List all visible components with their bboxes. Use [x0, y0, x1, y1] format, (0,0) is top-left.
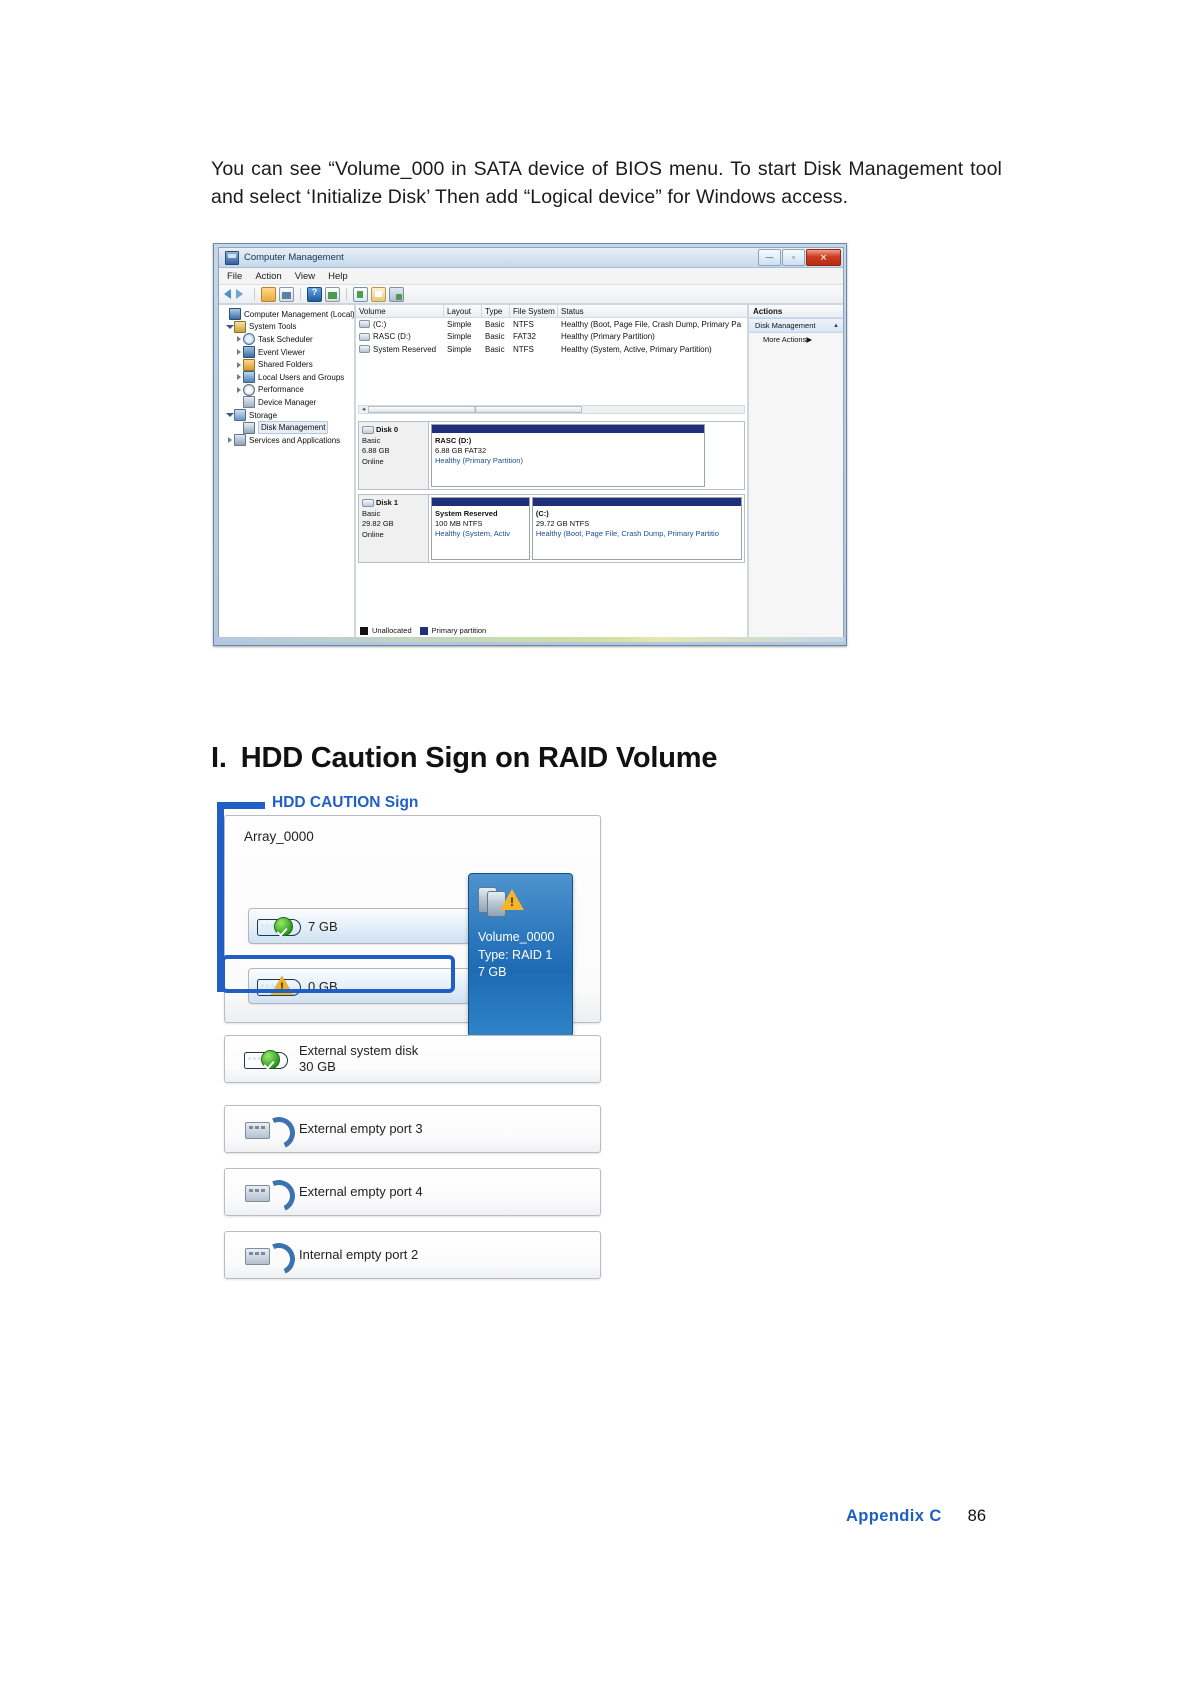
chevron-right-icon[interactable]: ▶	[806, 335, 812, 344]
intro-paragraph: You can see “Volume_000 in SATA device o…	[211, 156, 1002, 211]
scrollbar-thumb[interactable]	[368, 406, 582, 413]
tooltip-volume-type: Type: RAID 1	[478, 947, 572, 965]
main-pane: Volume Layout Type File System Status (C…	[355, 304, 843, 638]
back-arrow-icon[interactable]	[224, 289, 231, 299]
task-scheduler-icon	[243, 333, 255, 345]
cell-layout: Simple	[444, 331, 482, 344]
toolbar-separator	[254, 288, 255, 300]
scroll-left-icon[interactable]: ◄	[359, 407, 368, 413]
toolbar-separator	[346, 288, 347, 300]
hdd-green-check-icon	[257, 916, 301, 936]
services-icon	[234, 434, 246, 446]
minimize-button[interactable]: —	[758, 249, 781, 266]
window-controls[interactable]: — ▫ ✕	[758, 249, 841, 266]
disk-row[interactable]: Disk 1 Basic 29.82 GB Online	[358, 494, 745, 563]
page-footer: Appendix C 86	[846, 1507, 986, 1526]
actions-item-label: More Actions	[763, 335, 806, 344]
tree-item-system-tools[interactable]: System Tools	[221, 321, 354, 334]
disk-legend: Unallocated Primary partition	[360, 626, 486, 635]
window-title-bar: Computer Management — ▫ ✕	[219, 248, 843, 268]
disk-state: Online	[362, 530, 428, 541]
close-icon: ✕	[820, 253, 828, 262]
computer-icon	[229, 308, 241, 320]
partition-size: 6.88 GB FAT32	[435, 446, 704, 456]
external-empty-port-4-panel[interactable]: External empty port 4	[224, 1168, 601, 1216]
window-body: Computer Management (Local) System Tools…	[219, 304, 843, 638]
computer-management-screenshot: Computer Management — ▫ ✕ File Action Vi…	[213, 243, 847, 646]
table-row[interactable]: System Reserved Simple Basic NTFS Health…	[356, 343, 747, 356]
cell-volume: System Reserved	[356, 343, 444, 356]
partition-details: RASC (D:) 6.88 GB FAT32 Healthy (Primary…	[432, 434, 704, 466]
menu-item-help[interactable]: Help	[328, 271, 348, 282]
chevron-collapsed-icon[interactable]	[228, 437, 232, 443]
chevron-collapsed-icon[interactable]	[237, 349, 241, 355]
tree-item-shared-folders[interactable]: Shared Folders	[221, 358, 354, 371]
cell-file-system: NTFS	[510, 343, 558, 356]
partition-title: System Reserved	[435, 509, 529, 519]
volume-icon	[359, 320, 370, 328]
graphical-disk-view: Disk 0 Basic 6.88 GB Online R	[356, 421, 747, 622]
drive-row-healthy[interactable]: 7 GB	[248, 908, 470, 944]
cell-file-system: NTFS	[510, 318, 558, 331]
chevron-expanded-icon[interactable]	[226, 413, 234, 417]
up-folder-icon[interactable]	[261, 287, 276, 302]
chevron-expanded-icon[interactable]	[226, 325, 234, 329]
disk-icon	[362, 426, 374, 434]
legend-swatch-unallocated	[360, 627, 368, 635]
tree-item-label: Task Scheduler	[258, 334, 313, 345]
empty-port-icon	[244, 1179, 288, 1205]
column-header-type[interactable]: Type	[482, 305, 510, 317]
help-icon[interactable]	[307, 287, 322, 302]
panel-line1: External system disk	[299, 1043, 418, 1058]
external-empty-port-3-panel[interactable]: External empty port 3	[224, 1105, 601, 1153]
tree-item-storage[interactable]: Storage	[221, 409, 354, 422]
partition-color-bar	[533, 498, 741, 507]
disk-type: Basic	[362, 436, 428, 447]
drive-capacity: 7 GB	[308, 919, 338, 934]
tree-item-label: Performance	[258, 384, 304, 395]
partition-health: Healthy (Primary Partition)	[435, 456, 704, 466]
cell-type: Basic	[482, 343, 510, 356]
menu-item-view[interactable]: View	[295, 271, 315, 282]
cell-volume: (C:)	[356, 318, 444, 331]
table-row[interactable]: RASC (D:) Simple Basic FAT32 Healthy (Pr…	[356, 331, 747, 344]
menu-item-file[interactable]: File	[227, 271, 242, 282]
console-tree[interactable]: Computer Management (Local) System Tools…	[219, 304, 355, 638]
tree-item-computer-management[interactable]: Computer Management (Local)	[221, 308, 354, 321]
disk-partitions: RASC (D:) 6.88 GB FAT32 Healthy (Primary…	[429, 422, 744, 489]
tree-item-label: Computer Management (Local)	[244, 309, 355, 320]
disk-icon	[362, 499, 374, 507]
cell-type: Basic	[482, 318, 510, 331]
partition-color-bar	[432, 425, 704, 434]
properties-icon[interactable]	[371, 287, 386, 302]
disk-name: Disk 1	[362, 498, 428, 509]
page-title: I.HDD Caution Sign on RAID Volume	[211, 742, 717, 775]
cell-volume: RASC (D:)	[356, 331, 444, 344]
tree-item-label: System Tools	[249, 321, 296, 332]
internal-empty-port-2-panel[interactable]: Internal empty port 2	[224, 1231, 601, 1279]
chevron-collapsed-icon[interactable]	[237, 336, 241, 342]
raid-volume-warning-icon	[478, 882, 530, 920]
disk-info-panel: Disk 1 Basic 29.82 GB Online	[359, 495, 429, 562]
tree-item-label: Shared Folders	[258, 359, 313, 370]
disk-partitions: System Reserved 100 MB NTFS Healthy (Sys…	[429, 495, 744, 562]
actions-item-label: Disk Management	[755, 321, 815, 330]
partition-color-bar	[432, 498, 529, 507]
volume-icon	[359, 333, 370, 341]
section-number: I.	[211, 742, 227, 774]
array-title: Array_0000	[244, 829, 314, 844]
disk-management-icon	[243, 422, 255, 434]
chevron-collapsed-icon[interactable]	[237, 374, 241, 380]
legend-label-unallocated: Unallocated	[372, 626, 412, 635]
performance-icon	[243, 384, 255, 396]
cell-status: Healthy (System, Active, Primary Partiti…	[558, 343, 747, 356]
callout-top-line	[217, 802, 265, 809]
tree-item-event-viewer[interactable]: Event Viewer	[221, 346, 354, 359]
disk-management-pane: Volume Layout Type File System Status (C…	[355, 304, 748, 638]
computer-management-icon	[225, 251, 239, 265]
disk-size: 6.88 GB	[362, 446, 428, 457]
close-button[interactable]: ✕	[806, 249, 841, 266]
cell-volume-text: System Reserved	[373, 345, 436, 354]
tooltip-volume-size: 7 GB	[478, 964, 572, 982]
partition-block[interactable]: RASC (D:) 6.88 GB FAT32 Healthy (Primary…	[431, 424, 705, 487]
event-viewer-icon	[243, 346, 255, 358]
legend-swatch-primary-partition	[420, 627, 428, 635]
volume-tooltip: Volume_0000 Type: RAID 1 7 GB	[468, 873, 573, 1037]
partition-health: Healthy (System, Activ	[435, 529, 529, 539]
panel-line1: Internal empty port 2	[299, 1247, 418, 1264]
new-document-icon[interactable]	[353, 287, 368, 302]
external-system-disk-panel[interactable]: External system disk 30 GB	[224, 1035, 601, 1083]
maximize-icon: ▫	[792, 254, 795, 262]
actions-item-disk-management[interactable]: Disk Management ▲	[749, 318, 843, 333]
device-manager-icon	[243, 396, 255, 408]
section-title: HDD Caution Sign on RAID Volume	[241, 742, 718, 774]
panel-text: External system disk 30 GB	[299, 1043, 418, 1076]
empty-port-icon	[244, 1116, 288, 1142]
show-hide-tree-icon[interactable]	[279, 287, 294, 302]
toolbar-separator	[300, 288, 301, 300]
actions-item-more-actions[interactable]: More Actions ▶	[749, 333, 843, 346]
table-row[interactable]: (C:) Simple Basic NTFS Healthy (Boot, Pa…	[356, 318, 747, 331]
column-header-status[interactable]: Status	[558, 305, 747, 317]
tree-item-label: Event Viewer	[258, 347, 305, 358]
shared-folders-icon	[243, 359, 255, 371]
volume-list-hscrollbar[interactable]: ◄	[358, 405, 745, 414]
empty-port-icon	[244, 1242, 288, 1268]
column-header-file-system[interactable]: File System	[510, 305, 558, 317]
menu-item-action[interactable]: Action	[255, 271, 281, 282]
hdd-green-check-icon	[244, 1049, 288, 1069]
storage-icon	[234, 409, 246, 421]
volume-table-header[interactable]: Volume Layout Type File System Status	[356, 305, 747, 318]
tree-item-task-scheduler[interactable]: Task Scheduler	[221, 333, 354, 346]
partition-health: Healthy (Boot, Page File, Crash Dump, Pr…	[536, 529, 741, 539]
partition-size: 100 MB NTFS	[435, 519, 529, 529]
footer-appendix: Appendix C	[846, 1507, 942, 1526]
partition-block[interactable]: (C:) 29.72 GB NTFS Healthy (Boot, Page F…	[532, 497, 742, 560]
window-outer-frame: Computer Management — ▫ ✕ File Action Vi…	[213, 243, 847, 646]
window-title: Computer Management	[244, 252, 344, 263]
cell-type: Basic	[482, 331, 510, 344]
hdd-caution-sign-label: HDD CAUTION Sign	[272, 794, 418, 812]
tooltip-volume-name: Volume_0000	[478, 929, 572, 947]
cell-file-system: FAT32	[510, 331, 558, 344]
cell-volume-text: RASC (D:)	[373, 332, 411, 341]
tree-item-device-manager[interactable]: Device Manager	[221, 396, 354, 409]
partition-details: (C:) 29.72 GB NTFS Healthy (Boot, Page F…	[533, 507, 741, 539]
menu-bar[interactable]: File Action View Help	[219, 268, 843, 285]
local-users-icon	[243, 371, 255, 383]
tree-item-label: Disk Management	[258, 421, 328, 434]
window-inner-frame: Computer Management — ▫ ✕ File Action Vi…	[218, 247, 844, 639]
actions-header: Actions	[749, 305, 843, 318]
partition-block[interactable]: System Reserved 100 MB NTFS Healthy (Sys…	[431, 497, 530, 560]
partition-details: System Reserved 100 MB NTFS Healthy (Sys…	[432, 507, 529, 539]
tree-item-label: Services and Applications	[249, 435, 340, 446]
disk-row[interactable]: Disk 0 Basic 6.88 GB Online R	[358, 421, 745, 490]
tree-item-label: Device Manager	[258, 397, 316, 408]
disk-state: Online	[362, 457, 428, 468]
forward-arrow-icon[interactable]	[236, 289, 243, 299]
disk-info-panel: Disk 0 Basic 6.88 GB Online	[359, 422, 429, 489]
tree-item-services-and-applications[interactable]: Services and Applications	[221, 434, 354, 447]
chevron-collapsed-icon[interactable]	[237, 387, 241, 393]
disk-size: 29.82 GB	[362, 519, 428, 530]
partition-title: RASC (D:)	[435, 436, 704, 446]
tree-item-local-users-and-groups[interactable]: Local Users and Groups	[221, 371, 354, 384]
column-header-volume[interactable]: Volume	[356, 305, 444, 317]
volume-icon	[359, 345, 370, 353]
footer-page-number: 86	[968, 1507, 986, 1526]
cell-volume-text: (C:)	[373, 320, 386, 329]
legend-label-primary-partition: Primary partition	[432, 626, 487, 635]
system-tools-icon	[234, 321, 246, 333]
disk-name: Disk 0	[362, 425, 428, 436]
tree-item-disk-management[interactable]: Disk Management	[221, 421, 354, 434]
chevron-up-icon[interactable]: ▲	[833, 323, 839, 329]
cell-status: Healthy (Boot, Page File, Crash Dump, Pr…	[558, 318, 747, 331]
actions-pane: Actions Disk Management ▲ More Actions ▶	[748, 304, 843, 638]
column-header-layout[interactable]: Layout	[444, 305, 482, 317]
tree-item-label: Local Users and Groups	[258, 372, 344, 383]
caution-highlight-box	[221, 955, 455, 993]
panel-line2: 30 GB	[299, 1059, 336, 1074]
panel-line1: External empty port 3	[299, 1121, 423, 1138]
cell-layout: Simple	[444, 343, 482, 356]
partition-size: 29.72 GB NTFS	[536, 519, 741, 529]
panel-line1: External empty port 4	[299, 1184, 423, 1201]
tree-item-performance[interactable]: Performance	[221, 384, 354, 397]
refresh-icon[interactable]	[389, 287, 404, 302]
taskbar-strip	[218, 637, 844, 642]
cell-status: Healthy (Primary Partition)	[558, 331, 747, 344]
raid-diagram: HDD CAUTION Sign Array_0000 7 GB 0 GB Vo…	[211, 790, 641, 1315]
minimize-icon: —	[766, 254, 774, 262]
tree-item-label: Storage	[249, 410, 277, 421]
cell-layout: Simple	[444, 318, 482, 331]
partition-title: (C:)	[536, 509, 741, 519]
toolbar[interactable]	[219, 285, 843, 304]
maximize-button[interactable]: ▫	[782, 249, 805, 266]
chevron-collapsed-icon[interactable]	[237, 362, 241, 368]
disk-type: Basic	[362, 509, 428, 520]
show-hide-action-pane-icon[interactable]	[325, 287, 340, 302]
